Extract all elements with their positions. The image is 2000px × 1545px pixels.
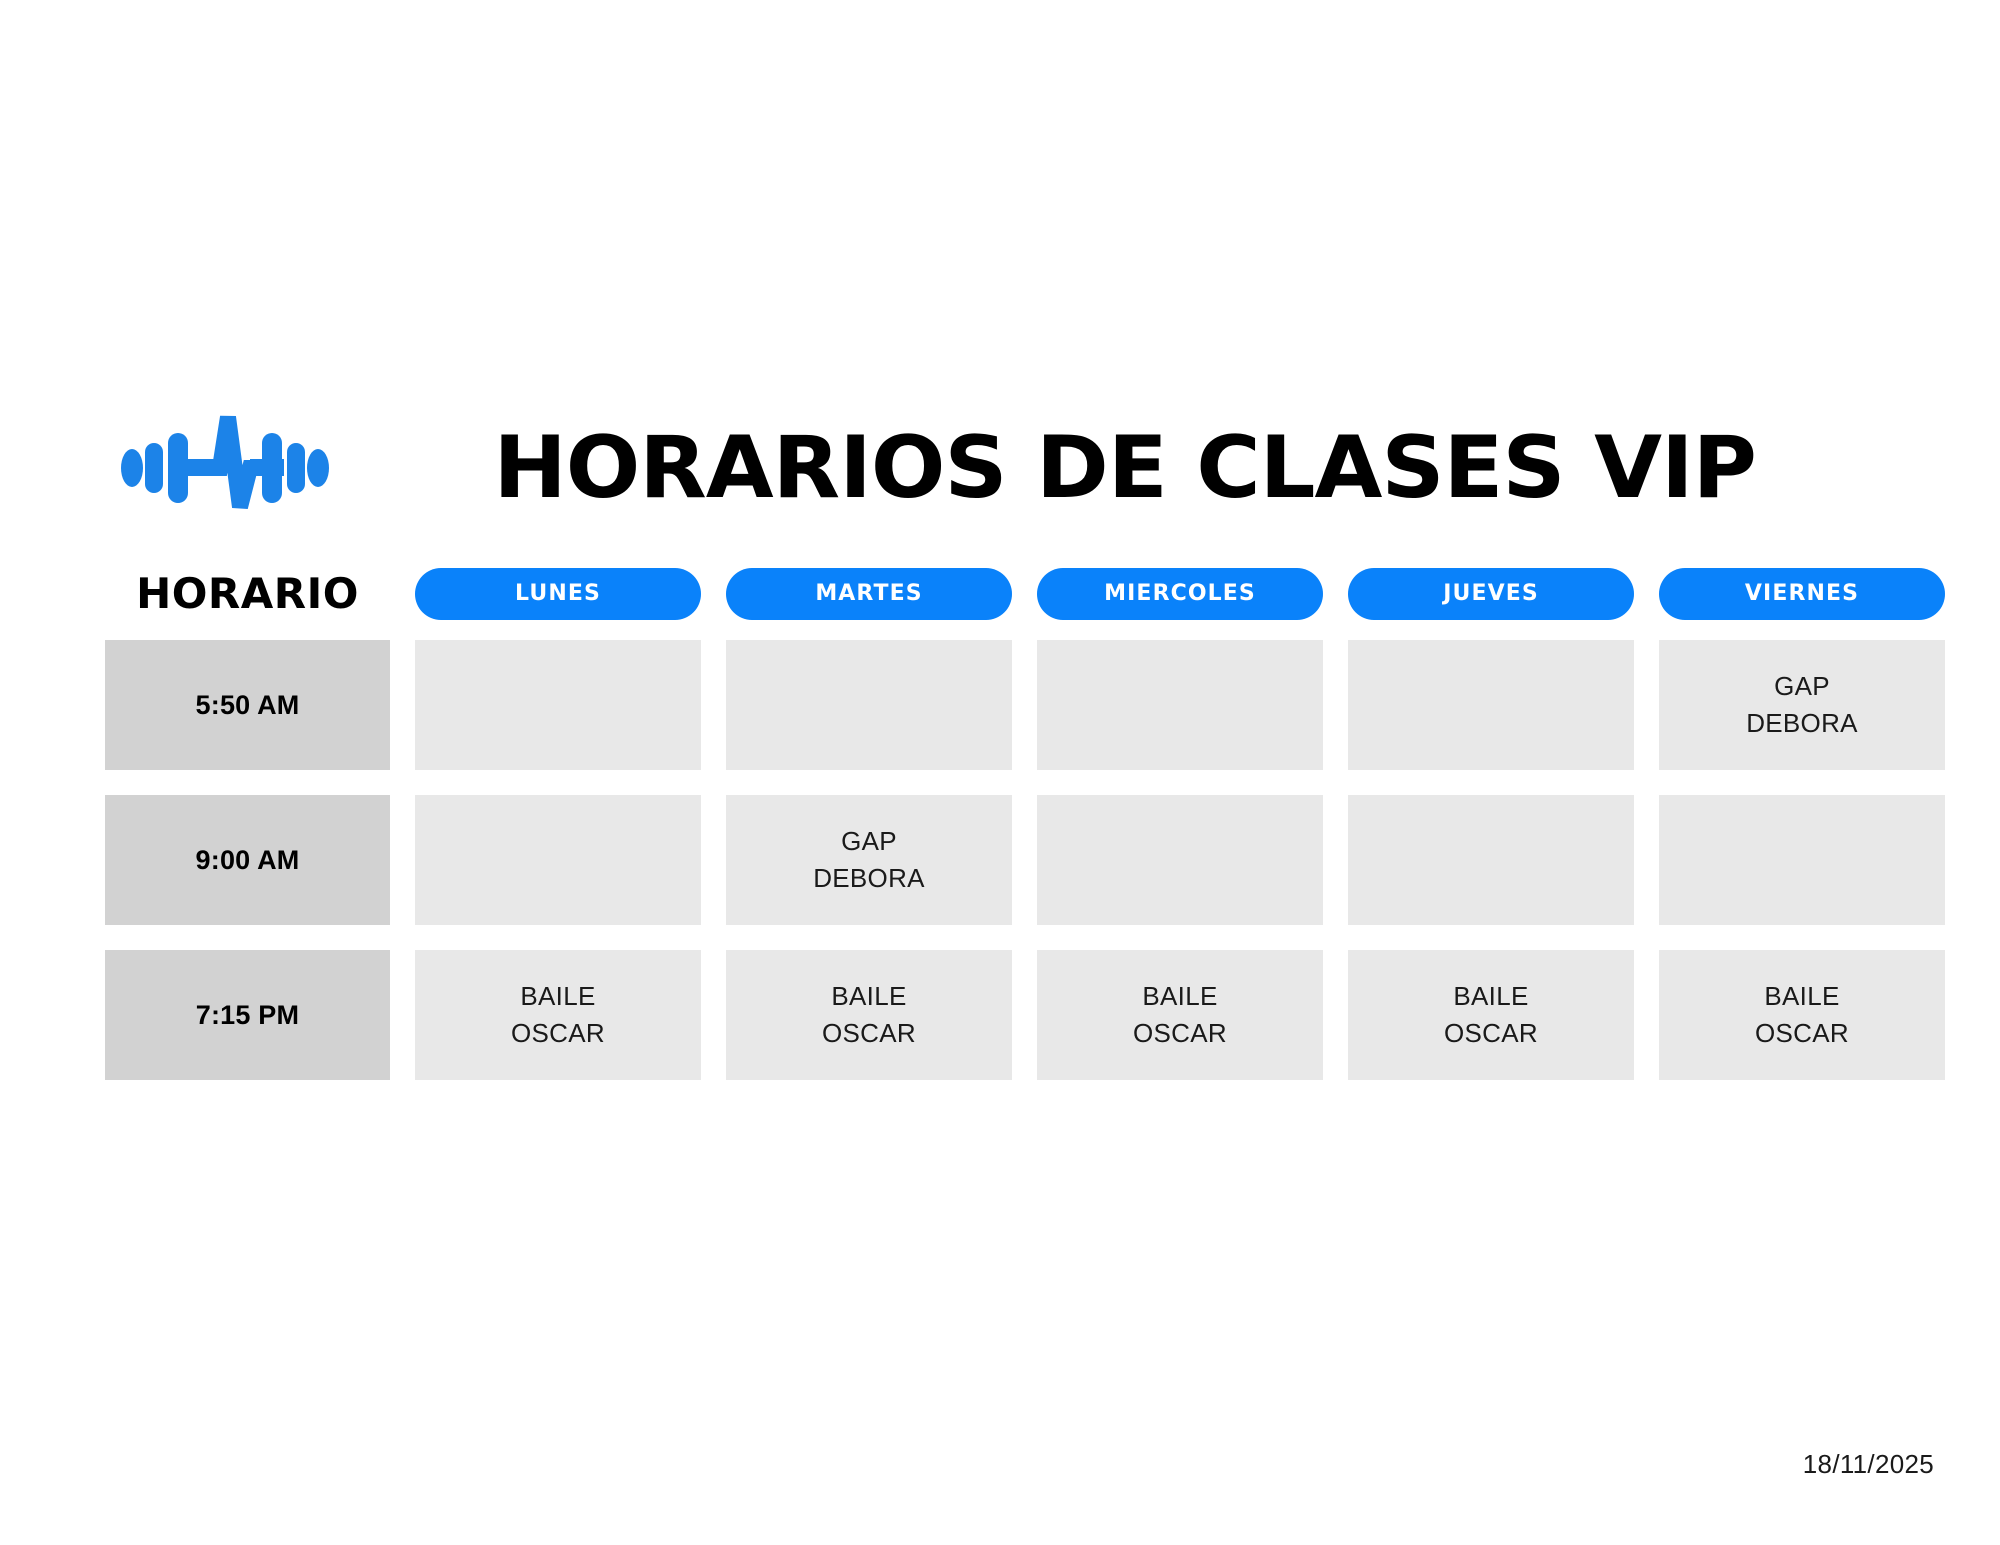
- class-cell-lunes[interactable]: [415, 795, 701, 925]
- time-slot-label: 9:00 AM: [105, 795, 390, 925]
- class-cell-lunes[interactable]: BAILE OSCAR: [415, 950, 701, 1080]
- class-cell-jueves[interactable]: [1348, 795, 1634, 925]
- class-cell-miercoles[interactable]: [1037, 640, 1323, 770]
- class-coach: OSCAR: [511, 1019, 605, 1049]
- class-name: BAILE: [1764, 982, 1839, 1012]
- class-cell-jueves[interactable]: [1348, 640, 1634, 770]
- class-cell-jueves[interactable]: BAILE OSCAR: [1348, 950, 1634, 1080]
- class-name: GAP: [1774, 672, 1830, 702]
- class-coach: OSCAR: [1133, 1019, 1227, 1049]
- class-name: BAILE: [1142, 982, 1217, 1012]
- table-row: 7:15 PM BAILE OSCAR BAILE OSCAR BAILE OS…: [105, 950, 1945, 1080]
- class-cell-viernes[interactable]: BAILE OSCAR: [1659, 950, 1945, 1080]
- day-header-row: HORARIO LUNES MARTES MIERCOLES JUEVES VI…: [105, 568, 1945, 620]
- class-cell-viernes[interactable]: GAP DEBORA: [1659, 640, 1945, 770]
- footer-date: 18/11/2025: [1803, 1449, 1934, 1480]
- page-title: HORARIOS DE CLASES VIP: [329, 425, 1961, 511]
- day-header-lunes[interactable]: LUNES: [415, 568, 701, 620]
- class-cell-martes[interactable]: BAILE OSCAR: [726, 950, 1012, 1080]
- day-header-martes[interactable]: MARTES: [726, 568, 1012, 620]
- class-name: GAP: [841, 827, 897, 857]
- class-coach: OSCAR: [1444, 1019, 1538, 1049]
- poster-header: HORARIOS DE CLASES VIP: [105, 405, 1945, 530]
- class-cell-lunes[interactable]: [415, 640, 701, 770]
- dumbbell-heartbeat-icon: [105, 408, 345, 528]
- day-header-viernes[interactable]: VIERNES: [1659, 568, 1945, 620]
- schedule-grid: 5:50 AM GAP DEBORA 9: [105, 640, 1945, 1080]
- class-name: BAILE: [520, 982, 595, 1012]
- schedule-poster: HORARIOS DE CLASES VIP HORARIO LUNES MAR…: [0, 0, 2000, 1545]
- class-cell-miercoles[interactable]: [1037, 795, 1323, 925]
- class-coach: DEBORA: [1746, 709, 1858, 739]
- class-coach: DEBORA: [813, 864, 925, 894]
- class-name: BAILE: [1453, 982, 1528, 1012]
- time-column-header: HORARIO: [105, 568, 390, 620]
- class-coach: OSCAR: [822, 1019, 916, 1049]
- time-slot-label: 5:50 AM: [105, 640, 390, 770]
- class-cell-martes[interactable]: GAP DEBORA: [726, 795, 1012, 925]
- class-cell-miercoles[interactable]: BAILE OSCAR: [1037, 950, 1323, 1080]
- day-header-jueves[interactable]: JUEVES: [1348, 568, 1634, 620]
- class-coach: OSCAR: [1755, 1019, 1849, 1049]
- class-name: BAILE: [831, 982, 906, 1012]
- time-slot-label: 7:15 PM: [105, 950, 390, 1080]
- table-row: 5:50 AM GAP DEBORA: [105, 640, 1945, 770]
- table-row: 9:00 AM GAP DEBORA: [105, 795, 1945, 925]
- day-header-miercoles[interactable]: MIERCOLES: [1037, 568, 1323, 620]
- class-cell-viernes[interactable]: [1659, 795, 1945, 925]
- class-cell-martes[interactable]: [726, 640, 1012, 770]
